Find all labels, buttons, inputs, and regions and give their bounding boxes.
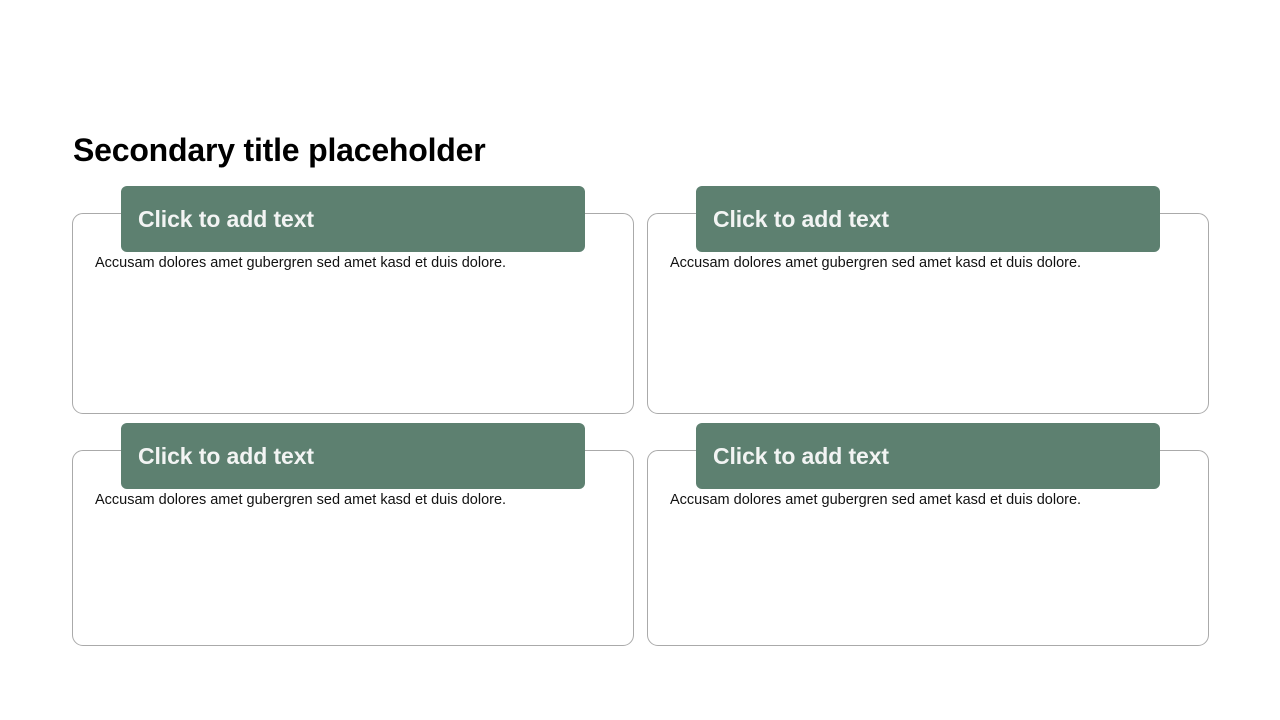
card-body[interactable]: Accusam dolores amet gubergren sed amet … [648, 489, 1208, 511]
page-title[interactable]: Secondary title placeholder [73, 128, 1213, 174]
card-header-banner[interactable]: Click to add text [121, 186, 585, 252]
card-body-text: Accusam dolores amet gubergren sed amet … [95, 252, 611, 274]
card-header-banner[interactable]: Click to add text [696, 186, 1160, 252]
content-card[interactable]: Click to add text Accusam dolores amet g… [647, 450, 1209, 646]
slide-canvas: Secondary title placeholder Click to add… [0, 0, 1280, 720]
card-header-banner[interactable]: Click to add text [121, 423, 585, 489]
card-body-text: Accusam dolores amet gubergren sed amet … [670, 252, 1186, 274]
content-card[interactable]: Click to add text Accusam dolores amet g… [647, 213, 1209, 414]
card-body-text: Accusam dolores amet gubergren sed amet … [95, 489, 611, 511]
card-heading-text: Click to add text [121, 442, 314, 470]
card-body-text: Accusam dolores amet gubergren sed amet … [670, 489, 1186, 511]
content-card[interactable]: Click to add text Accusam dolores amet g… [72, 213, 634, 414]
card-body[interactable]: Accusam dolores amet gubergren sed amet … [648, 252, 1208, 274]
content-card[interactable]: Click to add text Accusam dolores amet g… [72, 450, 634, 646]
card-body[interactable]: Accusam dolores amet gubergren sed amet … [73, 252, 633, 274]
card-heading-text: Click to add text [696, 442, 889, 470]
card-body[interactable]: Accusam dolores amet gubergren sed amet … [73, 489, 633, 511]
card-heading-text: Click to add text [121, 205, 314, 233]
card-header-banner[interactable]: Click to add text [696, 423, 1160, 489]
card-heading-text: Click to add text [696, 205, 889, 233]
